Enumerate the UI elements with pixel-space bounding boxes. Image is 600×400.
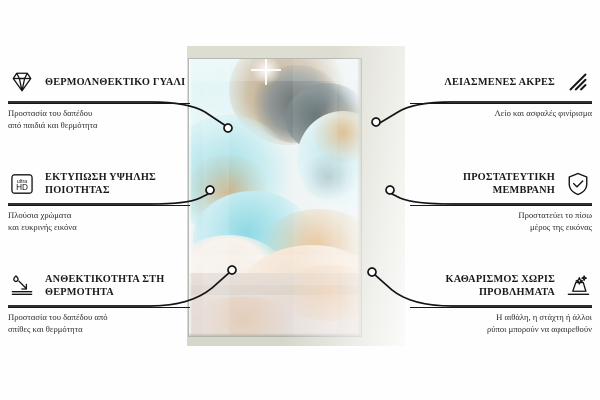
svg-text:HD: HD xyxy=(16,183,28,192)
feature-desc-line-1: Προστασία του δαπέδου xyxy=(8,108,190,120)
feature-block-protective-film: ΠΡΟΣΤΑΤΕΥΤΙΚΗ ΜΕΜΒΡΑΝΗ Προστατεύει το πί… xyxy=(410,166,592,233)
feature-desc-line-2: σπίθες και θερμότητα xyxy=(8,324,190,336)
feature-title: ΛΕΙΑΣΜΕΝΕΣ ΑΚΡΕΣ xyxy=(410,76,555,89)
feature-divider xyxy=(8,205,190,206)
feature-title: ΚΑΘΑΡΙΣΜΟΣ ΧΩΡΙΣ ΠΡΟΒΛΗΜΑΤΑ xyxy=(410,273,555,299)
easy-clean-icon xyxy=(564,272,592,300)
feature-desc-line-2: και ευκρινής εικόνα xyxy=(8,222,190,234)
feature-header: ΛΕΙΑΣΜΕΝΕΣ ΑΚΡΕΣ xyxy=(410,64,592,100)
feature-divider xyxy=(8,103,190,104)
feature-header: ΚΑΘΑΡΙΣΜΟΣ ΧΩΡΙΣ ΠΡΟΒΛΗΜΑΤΑ xyxy=(410,268,592,304)
infographic-stage: ΘΕΡΜΟΛΝΘΕΚΤΙΚΟ ΓΥΑΛΙ Προστασία του δαπέδ… xyxy=(0,0,600,400)
feature-description: Προστατεύει το πίσω μέρος της εικόνας xyxy=(410,210,592,233)
feature-description: Λείο και ασφαλές φινίρισμα xyxy=(410,108,592,120)
feature-desc-line-1: Προστατεύει το πίσω xyxy=(410,210,592,222)
feature-description: Η αιθάλη, η στάχτη ή άλλοι ρύποι μπορούν… xyxy=(410,312,592,335)
feature-desc-line-2: μέρος της εικόνας xyxy=(410,222,592,234)
feature-header: ultra HD ΕΚΤΥΠΩΣΗ ΥΨΗΛΗΣ ΠΟΙΟΤΗΤΑΣ xyxy=(8,166,190,202)
feature-header: ΠΡΟΣΤΑΤΕΥΤΙΚΗ ΜΕΜΒΡΑΝΗ xyxy=(410,166,592,202)
feature-header: ΑΝΘΕΚΤΙΚΟΤΗΤΑ ΣΤΗ ΘΕΡΜΟΤΗΤΑ xyxy=(8,268,190,304)
feature-block-polished-edges: ΛΕΙΑΣΜΕΝΕΣ ΑΚΡΕΣ Λείο και ασφαλές φινίρι… xyxy=(410,64,592,120)
shield-check-icon xyxy=(564,170,592,198)
feature-desc-line-1: Πλούσια χρώματα xyxy=(8,210,190,222)
feature-title: ΕΚΤΥΠΩΣΗ ΥΨΗΛΗΣ ΠΟΙΟΤΗΤΑΣ xyxy=(45,171,190,197)
feature-desc-line-1: Η αιθάλη, η στάχτη ή άλλοι xyxy=(410,312,592,324)
feature-block-high-quality-print: ultra HD ΕΚΤΥΠΩΣΗ ΥΨΗΛΗΣ ΠΟΙΟΤΗΤΑΣ Πλούσ… xyxy=(8,166,190,233)
diamond-icon xyxy=(8,68,36,96)
feature-header: ΘΕΡΜΟΛΝΘΕΚΤΙΚΟ ΓΥΑΛΙ xyxy=(8,64,190,100)
feature-divider xyxy=(410,205,592,206)
ultra-hd-icon: ultra HD xyxy=(8,170,36,198)
feature-title: ΑΝΘΕΚΤΙΚΟΤΗΤΑ ΣΤΗ ΘΕΡΜΟΤΗΤΑ xyxy=(45,273,190,299)
feature-description: Πλούσια χρώματα και ευκρινής εικόνα xyxy=(8,210,190,233)
polished-edges-icon xyxy=(564,68,592,96)
feature-desc-line-1: Λείο και ασφαλές φινίρισμα xyxy=(410,108,592,120)
feature-title: ΠΡΟΣΤΑΤΕΥΤΙΚΗ ΜΕΜΒΡΑΝΗ xyxy=(410,171,555,197)
feature-desc-line-1: Προστασία του δαπέδου από xyxy=(8,312,190,324)
feature-divider xyxy=(410,103,592,104)
feature-desc-line-2: ρύποι μπορούν να αφαιρεθούν xyxy=(410,324,592,336)
feature-divider xyxy=(410,307,592,308)
feature-description: Προστασία του δαπέδου από σπίθες και θερ… xyxy=(8,312,190,335)
heat-resistance-icon xyxy=(8,272,36,300)
feature-description: Προστασία του δαπέδου από παιδιά και θερ… xyxy=(8,108,190,131)
feature-block-heat-resistant-glass: ΘΕΡΜΟΛΝΘΕΚΤΙΚΟ ΓΥΑΛΙ Προστασία του δαπέδ… xyxy=(8,64,190,131)
feature-divider xyxy=(8,307,190,308)
feature-title: ΘΕΡΜΟΛΝΘΕΚΤΙΚΟ ΓΥΑΛΙ xyxy=(45,76,190,89)
feature-block-easy-cleaning: ΚΑΘΑΡΙΣΜΟΣ ΧΩΡΙΣ ΠΡΟΒΛΗΜΑΤΑ Η αιθάλη, η … xyxy=(410,268,592,335)
feature-block-heat-durability: ΑΝΘΕΚΤΙΚΟΤΗΤΑ ΣΤΗ ΘΕΡΜΟΤΗΤΑ Προστασία το… xyxy=(8,268,190,335)
feature-desc-line-2: από παιδιά και θερμότητα xyxy=(8,120,190,132)
